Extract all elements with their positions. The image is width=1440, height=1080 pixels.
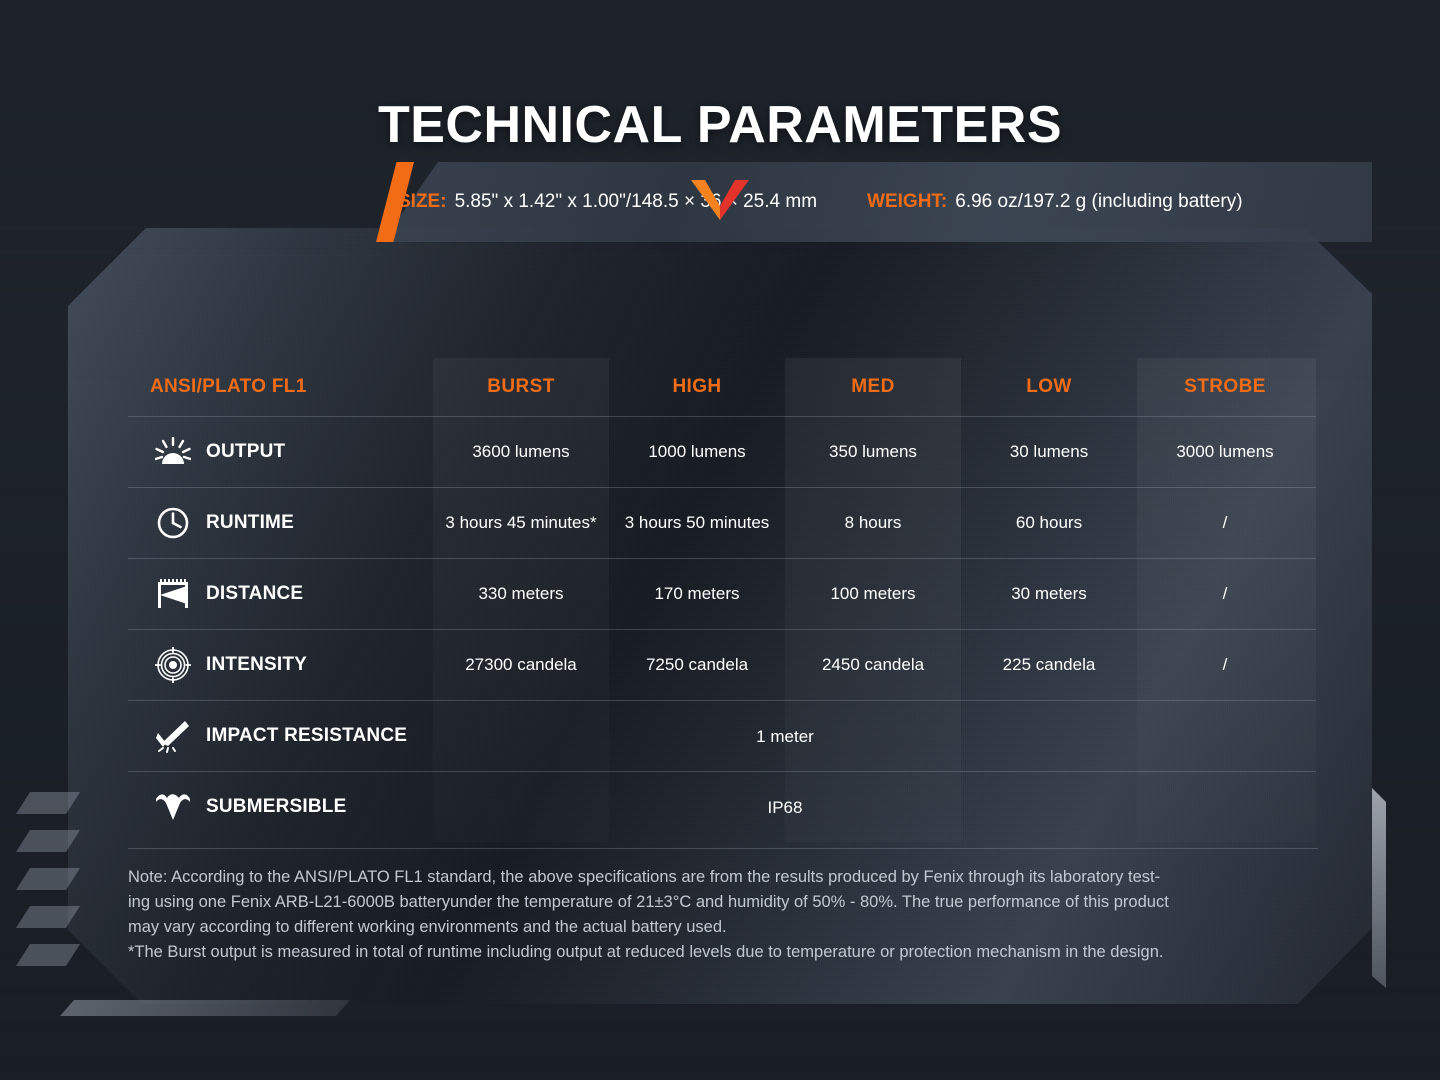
- cell-runtime-high: 3 hours 50 minutes: [609, 513, 785, 533]
- table-row: INTENSITY 27300 candela 7250 candela 245…: [128, 629, 1316, 700]
- cell-runtime-low: 60 hours: [961, 513, 1137, 533]
- table-header-row: ANSI/PLATO FL1 BURST HIGH MED LOW STROBE: [128, 358, 1316, 416]
- cell-output-low: 30 lumens: [961, 442, 1137, 462]
- cell-distance-burst: 330 meters: [433, 584, 609, 604]
- weight-label: WEIGHT:: [867, 191, 947, 213]
- cell-impact-resistance-value: 1 meter: [609, 727, 961, 747]
- row-label-runtime: RUNTIME: [128, 504, 433, 542]
- bottom-accent-rail: [60, 1000, 350, 1016]
- beam-distance-icon: [150, 575, 196, 613]
- water-drop-icon: [150, 788, 196, 826]
- cell-runtime-burst: 3 hours 45 minutes*: [433, 513, 609, 533]
- cell-output-burst: 3600 lumens: [433, 442, 609, 462]
- row-label-distance: DISTANCE: [128, 575, 433, 613]
- header-cell-med: MED: [785, 376, 961, 398]
- cell-distance-strobe: /: [1137, 584, 1313, 604]
- table-row: DISTANCE 330 meters 170 meters 100 meter…: [128, 558, 1316, 629]
- cell-distance-med: 100 meters: [785, 584, 961, 604]
- cell-distance-low: 30 meters: [961, 584, 1137, 604]
- cell-output-strobe: 3000 lumens: [1137, 442, 1313, 462]
- specs-panel: SIZE: 5.85" x 1.42" x 1.00"/148.5 × 36 ×…: [68, 228, 1372, 1004]
- chevron-down-icon: [691, 180, 749, 220]
- cell-intensity-med: 2450 candela: [785, 655, 961, 675]
- footnote-line-4: *The Burst output is measured in total o…: [128, 940, 1318, 965]
- table-row: OUTPUT 3600 lumens 1000 lumens 350 lumen…: [128, 416, 1316, 487]
- size-weight-line: SIZE: 5.85" x 1.42" x 1.00"/148.5 × 36 ×…: [398, 172, 1388, 232]
- header-cell-strobe: STROBE: [1137, 376, 1313, 398]
- row-label-output: OUTPUT: [128, 433, 433, 471]
- footnote-block: Note: According to the ANSI/PLATO FL1 st…: [128, 848, 1318, 965]
- size-label: SIZE:: [398, 191, 447, 213]
- sunburst-icon: [150, 433, 196, 471]
- clock-icon: [150, 504, 196, 542]
- diagonal-stripes-decoration: [16, 792, 80, 968]
- weight-value: 6.96 oz/197.2 g (including battery): [955, 191, 1242, 213]
- cell-distance-high: 170 meters: [609, 584, 785, 604]
- row-label-impact-resistance: IMPACT RESISTANCE: [128, 717, 433, 755]
- table-row: RUNTIME 3 hours 45 minutes* 3 hours 50 m…: [128, 487, 1316, 558]
- footnote-line-3: may vary according to different working …: [128, 915, 1318, 940]
- cell-runtime-strobe: /: [1137, 513, 1313, 533]
- cell-runtime-med: 8 hours: [785, 513, 961, 533]
- cell-intensity-strobe: /: [1137, 655, 1313, 675]
- cell-intensity-high: 7250 candela: [609, 655, 785, 675]
- target-intensity-icon: [150, 646, 196, 684]
- cell-intensity-low: 225 candela: [961, 655, 1137, 675]
- header-cell-high: HIGH: [609, 376, 785, 398]
- footnote-line-2: ing using one Fenix ARB-L21-6000B batter…: [128, 890, 1318, 915]
- row-label-intensity: INTENSITY: [128, 646, 433, 684]
- cell-output-high: 1000 lumens: [609, 442, 785, 462]
- cell-output-med: 350 lumens: [785, 442, 961, 462]
- header-cell-ansi: ANSI/PLATO FL1: [128, 376, 433, 398]
- impact-hammer-icon: [150, 717, 196, 755]
- table-row: SUBMERSIBLE IP68: [128, 771, 1316, 842]
- cell-submersible-value: IP68: [609, 798, 961, 818]
- page-title: TECHNICAL PARAMETERS: [0, 95, 1440, 155]
- header-cell-burst: BURST: [433, 376, 609, 398]
- cell-intensity-burst: 27300 candela: [433, 655, 609, 675]
- table-row: IMPACT RESISTANCE 1 meter: [128, 700, 1316, 771]
- footnote-line-1: Note: According to the ANSI/PLATO FL1 st…: [128, 865, 1318, 890]
- size-value: 5.85" x 1.42" x 1.00"/148.5 × 36 × 25.4 …: [455, 191, 817, 213]
- right-accent-bar: [1372, 788, 1386, 988]
- header-cell-low: LOW: [961, 376, 1137, 398]
- specs-table: ANSI/PLATO FL1 BURST HIGH MED LOW STROBE: [128, 358, 1316, 842]
- row-label-submersible: SUBMERSIBLE: [128, 788, 433, 826]
